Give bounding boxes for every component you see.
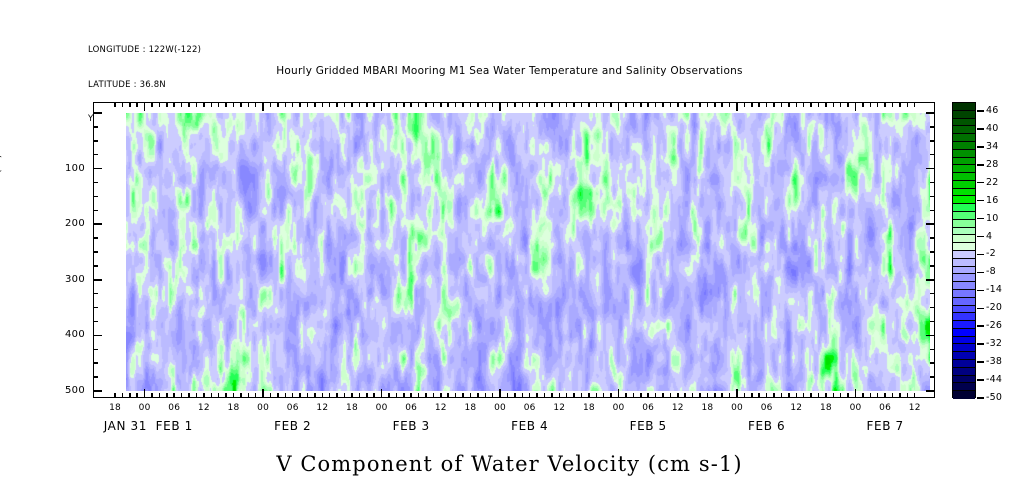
x-axis-minor-tick (610, 393, 612, 398)
x-axis-major-tick (262, 389, 264, 398)
colorbar-tick (977, 236, 984, 238)
x-axis-minor-tick (810, 393, 812, 398)
colorbar-cell (953, 134, 975, 142)
x-axis-minor-tick (847, 102, 849, 107)
x-axis-minor-tick (544, 393, 546, 398)
x-axis-major-tick (499, 102, 501, 111)
colorbar-tick-label: 22 (986, 177, 999, 188)
velocity-heatmap (126, 113, 930, 391)
x-axis-major-tick (618, 389, 620, 398)
colorbar-cell (953, 313, 975, 321)
x-axis-minor-tick (433, 102, 435, 107)
x-axis-minor-tick (551, 102, 553, 107)
x-axis-hour-label: 18 (574, 403, 604, 413)
colorbar-cell (953, 103, 975, 111)
x-axis-minor-tick (796, 102, 798, 107)
y-axis-minor-tick (93, 307, 98, 309)
x-axis-minor-tick (773, 102, 775, 107)
x-axis-day-label: FEB 4 (470, 419, 590, 433)
x-axis-major-tick (144, 389, 146, 398)
y-axis-major-tick (93, 168, 102, 170)
x-axis-major-tick (381, 102, 383, 111)
x-axis-minor-tick (581, 102, 583, 107)
x-axis-minor-tick (862, 102, 864, 107)
x-axis-minor-tick (699, 393, 701, 398)
x-axis-minor-tick (766, 102, 768, 107)
colorbar-tick-label: -44 (986, 374, 1002, 385)
colorbar-cell (953, 196, 975, 204)
x-axis-minor-tick (781, 393, 783, 398)
x-axis-minor-tick (492, 102, 494, 107)
colorbar-cell (953, 298, 975, 306)
colorbar-tick (977, 290, 984, 292)
x-axis-minor-tick (447, 102, 449, 107)
y-axis-minor-tick (93, 140, 98, 142)
x-axis-major-tick (855, 102, 857, 111)
x-axis-minor-tick (522, 102, 524, 107)
x-axis-minor-tick (410, 393, 412, 398)
x-axis-minor-tick (403, 393, 405, 398)
x-axis-hour-label: 06 (633, 403, 663, 413)
colorbar-cell (953, 111, 975, 119)
x-axis-minor-tick (536, 102, 538, 107)
colorbar-tick (977, 110, 984, 112)
colorbar-tick (977, 379, 984, 381)
y-axis-minor-tick (93, 126, 98, 128)
x-axis-hour-label: 12 (544, 403, 574, 413)
colorbar-cell (953, 391, 975, 399)
y-axis-minor-tick (93, 210, 98, 212)
x-axis-minor-tick (573, 393, 575, 398)
y-axis-minor-tick (93, 349, 98, 351)
x-axis-minor-tick (870, 102, 872, 107)
x-axis-hour-label: 06 (396, 403, 426, 413)
colorbar-cell (953, 142, 975, 150)
x-axis-major-tick (618, 102, 620, 111)
x-axis-minor-tick (662, 102, 664, 107)
x-axis-minor-tick (529, 102, 531, 107)
x-axis-hour-label: 18 (218, 403, 248, 413)
x-axis-minor-tick (211, 102, 213, 107)
colorbar-cell (953, 189, 975, 197)
colorbar-cell (953, 165, 975, 173)
x-axis-minor-tick (684, 393, 686, 398)
x-axis-minor-tick (225, 102, 227, 107)
x-axis-minor-tick (796, 393, 798, 398)
x-axis-minor-tick (758, 102, 760, 107)
x-axis-minor-tick (388, 393, 390, 398)
x-axis-minor-tick (788, 393, 790, 398)
x-axis-minor-tick (692, 393, 694, 398)
colorbar-tick-label: -20 (986, 302, 1002, 313)
x-axis-minor-tick (877, 102, 879, 107)
x-axis-minor-tick (255, 393, 257, 398)
x-axis-day-label: FEB 1 (114, 419, 234, 433)
y-axis-major-tick (93, 112, 102, 114)
x-axis-minor-tick (914, 393, 916, 398)
x-axis-minor-tick (559, 393, 561, 398)
x-axis-minor-tick (884, 393, 886, 398)
x-axis-minor-tick (781, 102, 783, 107)
x-axis-minor-tick (351, 102, 353, 107)
colorbar-cells (952, 102, 976, 398)
x-axis-minor-tick (136, 102, 138, 107)
x-axis-minor-tick (240, 102, 242, 107)
x-axis-minor-tick (833, 102, 835, 107)
x-axis-minor-tick (825, 393, 827, 398)
x-axis-minor-tick (640, 102, 642, 107)
x-axis-minor-tick (758, 393, 760, 398)
colorbar-tick-label: -14 (986, 284, 1002, 295)
y-axis-minor-tick (930, 307, 935, 309)
x-axis-minor-tick (485, 102, 487, 107)
y-axis-tick-label: 200 (45, 218, 85, 229)
x-axis-minor-tick (655, 102, 657, 107)
x-axis-minor-tick (462, 102, 464, 107)
colorbar-tick (977, 146, 984, 148)
y-axis-minor-tick (93, 265, 98, 267)
y-axis-minor-tick (930, 140, 935, 142)
x-axis-minor-tick (425, 393, 427, 398)
x-axis-minor-tick (159, 102, 161, 107)
x-axis-major-tick (855, 389, 857, 398)
colorbar-cell (953, 282, 975, 290)
colorbar-tick-label: -26 (986, 320, 1002, 331)
x-axis-minor-tick (477, 393, 479, 398)
x-axis-minor-tick (396, 102, 398, 107)
colorbar-cell (953, 352, 975, 360)
x-axis-minor-tick (188, 393, 190, 398)
x-axis-hour-label: 12 (307, 403, 337, 413)
colorbar-cell (953, 243, 975, 251)
colorbar-tick-label: 10 (986, 213, 999, 224)
colorbar-cell (953, 383, 975, 391)
colorbar-tick-label: 34 (986, 141, 999, 152)
colorbar-cell (953, 376, 975, 384)
x-axis-minor-tick (522, 393, 524, 398)
x-axis-minor-tick (573, 102, 575, 107)
x-axis-minor-tick (129, 102, 131, 107)
x-axis-minor-tick (196, 393, 198, 398)
x-axis-minor-tick (299, 102, 301, 107)
y-axis-tick-label: 500 (45, 385, 85, 396)
colorbar-tick (977, 218, 984, 220)
x-axis-minor-tick (721, 393, 723, 398)
figure-caption: V Component of Water Velocity (cm s-1) (5, 452, 1009, 476)
y-axis-minor-tick (930, 293, 935, 295)
x-axis-major-tick (499, 389, 501, 398)
x-axis-minor-tick (692, 102, 694, 107)
x-axis-minor-tick (166, 102, 168, 107)
x-axis-minor-tick (462, 393, 464, 398)
x-axis-minor-tick (729, 102, 731, 107)
x-axis-minor-tick (299, 393, 301, 398)
x-axis-minor-tick (366, 393, 368, 398)
y-axis-minor-tick (93, 196, 98, 198)
x-axis-hour-label: 18 (692, 403, 722, 413)
x-axis-minor-tick (270, 393, 272, 398)
x-axis-minor-tick (285, 393, 287, 398)
x-axis-minor-tick (677, 393, 679, 398)
colorbar-tick (977, 308, 984, 310)
x-axis-minor-tick (492, 393, 494, 398)
x-axis-minor-tick (225, 393, 227, 398)
x-axis-hour-label: 00 (722, 403, 752, 413)
x-axis-hour-label: 18 (337, 403, 367, 413)
x-axis-minor-tick (122, 102, 124, 107)
x-axis-minor-tick (818, 102, 820, 107)
x-axis-minor-tick (403, 102, 405, 107)
latitude-line: LATITUDE : 36.8N (88, 80, 201, 92)
x-axis-hour-label: 18 (100, 403, 130, 413)
x-axis-minor-tick (277, 102, 279, 107)
x-axis-minor-tick (729, 393, 731, 398)
x-axis-minor-tick (285, 102, 287, 107)
colorbar-tick-label: 4 (986, 231, 992, 242)
x-axis-major-tick (144, 102, 146, 111)
colorbar-cell (953, 337, 975, 345)
x-axis-minor-tick (203, 102, 205, 107)
x-axis-minor-tick (884, 102, 886, 107)
x-axis-hour-label: 18 (811, 403, 841, 413)
x-axis-minor-tick (625, 393, 627, 398)
x-axis-hour-label: 00 (604, 403, 634, 413)
x-axis-minor-tick (203, 393, 205, 398)
x-axis-minor-tick (670, 393, 672, 398)
x-axis-minor-tick (270, 102, 272, 107)
x-axis-minor-tick (647, 102, 649, 107)
x-axis-minor-tick (633, 393, 635, 398)
colorbar-tick-label: 28 (986, 159, 999, 170)
x-axis-minor-tick (485, 393, 487, 398)
x-axis-minor-tick (322, 393, 324, 398)
x-axis-minor-tick (507, 393, 509, 398)
x-axis-minor-tick (388, 102, 390, 107)
x-axis-minor-tick (373, 393, 375, 398)
x-axis-minor-tick (803, 393, 805, 398)
x-axis-minor-tick (566, 393, 568, 398)
x-axis-minor-tick (373, 102, 375, 107)
x-axis-minor-tick (625, 102, 627, 107)
x-axis-hour-label: 18 (455, 403, 485, 413)
x-axis-minor-tick (566, 102, 568, 107)
x-axis-minor-tick (825, 102, 827, 107)
x-axis-minor-tick (211, 393, 213, 398)
x-axis-minor-tick (766, 393, 768, 398)
x-axis-minor-tick (907, 393, 909, 398)
x-axis-minor-tick (662, 393, 664, 398)
colorbar-cell (953, 158, 975, 166)
y-axis-tick-label: 300 (45, 274, 85, 285)
colorbar-tick (977, 397, 984, 399)
x-axis-minor-tick (336, 393, 338, 398)
x-axis-minor-tick (721, 102, 723, 107)
x-axis-minor-tick (218, 102, 220, 107)
y-axis-minor-tick (930, 349, 935, 351)
colorbar-cell (953, 119, 975, 127)
colorbar-cell (953, 126, 975, 134)
colorbar-tick (977, 361, 984, 363)
colorbar-cell (953, 306, 975, 314)
y-axis-minor-tick (93, 362, 98, 364)
x-axis-hour-label: 00 (248, 403, 278, 413)
x-axis-minor-tick (788, 102, 790, 107)
x-axis-minor-tick (366, 102, 368, 107)
y-axis-minor-tick (93, 293, 98, 295)
x-axis-minor-tick (307, 102, 309, 107)
y-axis-minor-tick (93, 251, 98, 253)
x-axis-minor-tick (329, 102, 331, 107)
x-axis-minor-tick (196, 102, 198, 107)
x-axis-minor-tick (655, 393, 657, 398)
y-axis-minor-tick (93, 237, 98, 239)
y-axis-major-tick (926, 335, 935, 337)
x-axis-hour-label: 12 (663, 403, 693, 413)
x-axis-minor-tick (684, 102, 686, 107)
x-axis-minor-tick (707, 102, 709, 107)
x-axis-minor-tick (751, 102, 753, 107)
x-axis-hour-label: 06 (159, 403, 189, 413)
x-axis-minor-tick (640, 393, 642, 398)
x-axis-hour-label: 06 (752, 403, 782, 413)
x-axis-minor-tick (907, 102, 909, 107)
x-axis-minor-tick (773, 393, 775, 398)
x-axis-minor-tick (307, 393, 309, 398)
colorbar-tick-label: -2 (986, 248, 996, 259)
x-axis-minor-tick (610, 102, 612, 107)
x-axis-minor-tick (596, 102, 598, 107)
x-axis-minor-tick (218, 393, 220, 398)
x-axis-minor-tick (173, 393, 175, 398)
x-axis-minor-tick (455, 393, 457, 398)
longitude-line: LONGITUDE : 122W(-122) (88, 45, 201, 57)
x-axis-minor-tick (440, 102, 442, 107)
x-axis-minor-tick (899, 393, 901, 398)
y-axis-tick-label: 100 (45, 163, 85, 174)
x-axis-minor-tick (647, 393, 649, 398)
x-axis-minor-tick (418, 102, 420, 107)
x-axis-hour-label: 00 (367, 403, 397, 413)
x-axis-minor-tick (536, 393, 538, 398)
y-axis-tick-label: 400 (45, 329, 85, 340)
x-axis-minor-tick (714, 102, 716, 107)
x-axis-minor-tick (744, 393, 746, 398)
y-axis-major-tick (926, 279, 935, 281)
x-axis-day-label: FEB 3 (351, 419, 471, 433)
x-axis-day-label: FEB 5 (588, 419, 708, 433)
y-axis-major-tick (93, 335, 102, 337)
x-axis-minor-tick (433, 393, 435, 398)
y-axis-minor-tick (93, 154, 98, 156)
y-axis-major-tick (93, 390, 102, 392)
x-axis-minor-tick (603, 102, 605, 107)
x-axis-minor-tick (129, 393, 131, 398)
x-axis-hour-label: 12 (900, 403, 930, 413)
colorbar (952, 102, 976, 398)
colorbar-cell (953, 235, 975, 243)
x-axis-minor-tick (166, 393, 168, 398)
x-axis-minor-tick (899, 102, 901, 107)
x-axis-minor-tick (344, 102, 346, 107)
x-axis-minor-tick (470, 393, 472, 398)
colorbar-cell (953, 181, 975, 189)
x-axis-minor-tick (699, 102, 701, 107)
x-axis-minor-tick (181, 102, 183, 107)
y-axis-major-tick (926, 168, 935, 170)
colorbar-cell (953, 360, 975, 368)
x-axis-minor-tick (233, 102, 235, 107)
x-axis-minor-tick (892, 102, 894, 107)
colorbar-tick (977, 164, 984, 166)
colorbar-cell (953, 212, 975, 220)
colorbar-tick (977, 272, 984, 274)
colorbar-cell (953, 259, 975, 267)
x-axis-minor-tick (544, 102, 546, 107)
colorbar-cell (953, 220, 975, 228)
x-axis-minor-tick (588, 393, 590, 398)
x-axis-minor-tick (559, 102, 561, 107)
x-axis-hour-label: 00 (841, 403, 871, 413)
colorbar-tick-label: -8 (986, 266, 996, 277)
x-axis-minor-tick (410, 102, 412, 107)
x-axis-minor-tick (514, 393, 516, 398)
x-axis-minor-tick (359, 393, 361, 398)
x-axis-minor-tick (870, 393, 872, 398)
colorbar-tick (977, 254, 984, 256)
colorbar-tick-label: -50 (986, 392, 1002, 403)
x-axis-minor-tick (818, 393, 820, 398)
y-axis-major-tick (93, 279, 102, 281)
x-axis-minor-tick (677, 102, 679, 107)
x-axis-minor-tick (840, 393, 842, 398)
x-axis-minor-tick (507, 102, 509, 107)
colorbar-tick (977, 200, 984, 202)
x-axis-minor-tick (877, 393, 879, 398)
y-axis-minor-tick (930, 362, 935, 364)
y-axis-minor-tick (930, 376, 935, 378)
y-axis-minor-tick (93, 321, 98, 323)
x-axis-day-label: FEB 2 (233, 419, 353, 433)
colorbar-cell (953, 204, 975, 212)
y-axis-major-tick (926, 112, 935, 114)
x-axis-minor-tick (314, 393, 316, 398)
colorbar-cell (953, 150, 975, 158)
colorbar-cell (953, 344, 975, 352)
x-axis-minor-tick (751, 393, 753, 398)
x-axis-minor-tick (477, 102, 479, 107)
page-title: Hourly Gridded MBARI Mooring M1 Sea Wate… (5, 65, 1009, 77)
colorbar-tick-label: -38 (986, 356, 1002, 367)
x-axis-minor-tick (810, 102, 812, 107)
x-axis-minor-tick (240, 393, 242, 398)
x-axis-minor-tick (173, 102, 175, 107)
x-axis-hour-label: 06 (278, 403, 308, 413)
x-axis-hour-label: 06 (515, 403, 545, 413)
x-axis-minor-tick (396, 393, 398, 398)
x-axis-minor-tick (277, 393, 279, 398)
x-axis-minor-tick (603, 393, 605, 398)
x-axis-minor-tick (744, 102, 746, 107)
y-axis-minor-tick (930, 182, 935, 184)
colorbar-tick-label: 46 (986, 105, 999, 116)
colorbar-cell (953, 329, 975, 337)
x-axis-minor-tick (596, 393, 598, 398)
y-axis-major-tick (926, 390, 935, 392)
x-axis-minor-tick (248, 102, 250, 107)
x-axis-minor-tick (292, 102, 294, 107)
y-axis-minor-tick (930, 251, 935, 253)
x-axis-minor-tick (833, 393, 835, 398)
